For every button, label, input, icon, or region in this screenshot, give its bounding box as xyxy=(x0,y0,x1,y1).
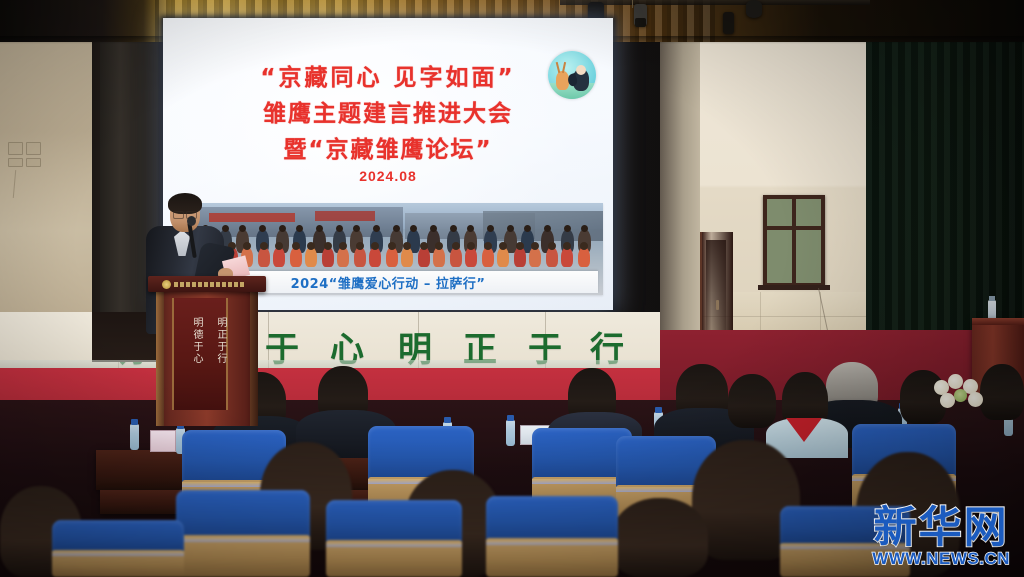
eagle-icon xyxy=(573,69,589,91)
podium-front-panel: 明德于心 明正于行 xyxy=(172,298,228,410)
photo-child xyxy=(337,247,349,267)
photo-child-head xyxy=(307,242,315,250)
flower-icon xyxy=(948,374,963,389)
seat-trim xyxy=(52,551,184,556)
photo-child-head xyxy=(371,242,379,250)
wall-return-face xyxy=(660,0,702,330)
photo-person-head xyxy=(544,225,551,232)
photo-person-head xyxy=(430,225,437,232)
auditorium-seat-front[interactable] xyxy=(176,490,310,577)
podium: 明德于心 明正于行 xyxy=(148,276,266,426)
name-card xyxy=(150,430,176,452)
photo-child-head xyxy=(275,242,283,250)
photo-person-head xyxy=(279,225,286,232)
photo-child xyxy=(482,247,494,267)
photo-person-head xyxy=(450,225,457,232)
slide-title-line-2: 雏鹰主题建言推进大会 xyxy=(163,94,613,128)
photo-person-head xyxy=(507,225,514,232)
podium-top xyxy=(148,276,266,292)
photo-child-head xyxy=(403,242,411,250)
photo-child-head xyxy=(324,242,332,250)
photo-red-banner xyxy=(209,213,295,222)
water-bottle-icon xyxy=(988,300,996,320)
photo-child xyxy=(418,247,430,267)
photo-child xyxy=(322,247,334,267)
photo-child xyxy=(450,247,462,267)
photo-child xyxy=(465,247,477,267)
microphone-head-icon xyxy=(187,216,196,226)
photo-child-head xyxy=(563,242,571,250)
podium-edge-left xyxy=(156,292,164,426)
photo-child xyxy=(433,247,445,267)
photo-child xyxy=(514,247,526,267)
photo-child-head xyxy=(516,242,524,250)
photo-person-head xyxy=(487,225,494,232)
slide-date: 2024.08 xyxy=(163,168,613,184)
photo-child-head xyxy=(499,242,507,250)
secondary-podium-top xyxy=(972,318,1024,325)
seat-trim xyxy=(326,542,462,547)
slide-title-line-3: 暨“京藏雏鹰论坛” xyxy=(163,130,613,164)
window-icon xyxy=(763,195,825,287)
photo-child-head xyxy=(260,242,268,250)
window-mullion xyxy=(767,226,821,230)
podium-calligraphy-column-2: 明正于行 xyxy=(202,308,228,374)
photo-child-head xyxy=(388,242,396,250)
hanging-wire xyxy=(632,0,633,8)
photo-person-head xyxy=(373,225,380,232)
seat-back xyxy=(326,500,462,545)
photo-person-head xyxy=(336,225,343,232)
auditorium-seat-front[interactable] xyxy=(486,496,618,577)
attendee-head xyxy=(728,374,776,428)
photo-child xyxy=(354,247,366,267)
auditorium-seat-front[interactable] xyxy=(52,520,184,577)
photo-child xyxy=(401,247,413,267)
photo-person-head xyxy=(353,225,360,232)
photo-child xyxy=(529,247,541,267)
photo-person-head xyxy=(524,225,531,232)
photo-child xyxy=(578,247,590,267)
photo-person-head xyxy=(259,225,266,232)
photo-child xyxy=(386,247,398,267)
photo-child-head xyxy=(452,242,460,250)
seat-trim xyxy=(486,540,618,545)
stage-light-icon xyxy=(723,12,734,34)
photo-child xyxy=(258,247,270,267)
photo-child-head xyxy=(548,242,556,250)
podium-gold-lettering xyxy=(174,282,246,287)
photo-child-head xyxy=(467,242,475,250)
eagle-antelope-mascot-logo-icon xyxy=(548,51,596,99)
photo-person-head xyxy=(222,225,229,232)
seat-back xyxy=(52,520,184,553)
podium-calligraphy-column-1: 明德于心 xyxy=(178,308,204,374)
lighting-truss xyxy=(560,0,870,5)
photo-child-head xyxy=(339,242,347,250)
flower-icon xyxy=(940,393,955,408)
photo-child-head xyxy=(420,242,428,250)
water-bottle-icon xyxy=(130,424,139,450)
wall-switch-icon xyxy=(8,158,23,167)
photo-child-head xyxy=(243,242,251,250)
auditorium-seat-front[interactable] xyxy=(780,506,910,577)
stage-light-icon xyxy=(634,4,647,26)
conference-hall-photo: “京藏同心 见字如面” 雏鹰主题建言推进大会 暨“京藏雏鹰论坛” 2024.08… xyxy=(0,0,1024,577)
window-mullion xyxy=(792,199,796,283)
photo-person-head xyxy=(581,225,588,232)
seat-trim xyxy=(780,544,910,549)
wall-socket-icon xyxy=(8,142,23,155)
flower-icon xyxy=(968,392,983,407)
photo-banner-text: 2024“雏鹰爱心行动 – 拉萨行” xyxy=(291,273,486,292)
photo-child-head xyxy=(435,242,443,250)
stage-curtain-right xyxy=(866,0,1024,340)
foreground-head xyxy=(612,498,708,577)
photo-person-head xyxy=(467,225,474,232)
stage-light-icon xyxy=(746,0,762,18)
photo-child xyxy=(273,247,285,267)
photo-person-head xyxy=(564,225,571,232)
flower-bouquet xyxy=(932,372,994,414)
photo-person-head xyxy=(393,225,400,232)
photo-child-head xyxy=(580,242,588,250)
auditorium-seat-front[interactable] xyxy=(326,500,462,577)
seat-back xyxy=(780,506,910,547)
podium-edge-right xyxy=(250,292,258,426)
wall-switch-icon xyxy=(26,158,41,167)
glasses-icon xyxy=(173,210,197,216)
wall-socket-icon xyxy=(26,142,41,155)
photo-child xyxy=(305,247,317,267)
photo-person-head xyxy=(296,225,303,232)
photo-red-banner xyxy=(315,211,375,221)
photo-person-head xyxy=(410,225,417,232)
photo-child xyxy=(561,247,573,267)
photo-child xyxy=(546,247,558,267)
slide-title-line-1: “京藏同心 见字如面” xyxy=(163,58,613,92)
podium-emblem-icon xyxy=(162,280,171,289)
photo-child-head xyxy=(484,242,492,250)
photo-child-head xyxy=(531,242,539,250)
seat-back xyxy=(176,490,310,540)
seat-back xyxy=(486,496,618,543)
photo-child xyxy=(497,247,509,267)
photo-child xyxy=(290,247,302,267)
photo-child-head xyxy=(292,242,300,250)
photo-child-head xyxy=(356,242,364,250)
photo-person-head xyxy=(239,225,246,232)
photo-child xyxy=(369,247,381,267)
water-bottle-icon xyxy=(506,420,515,446)
seat-trim xyxy=(176,537,310,542)
flower-green-icon xyxy=(954,389,967,402)
door-handle-icon xyxy=(716,300,719,310)
photo-person-head xyxy=(316,225,323,232)
